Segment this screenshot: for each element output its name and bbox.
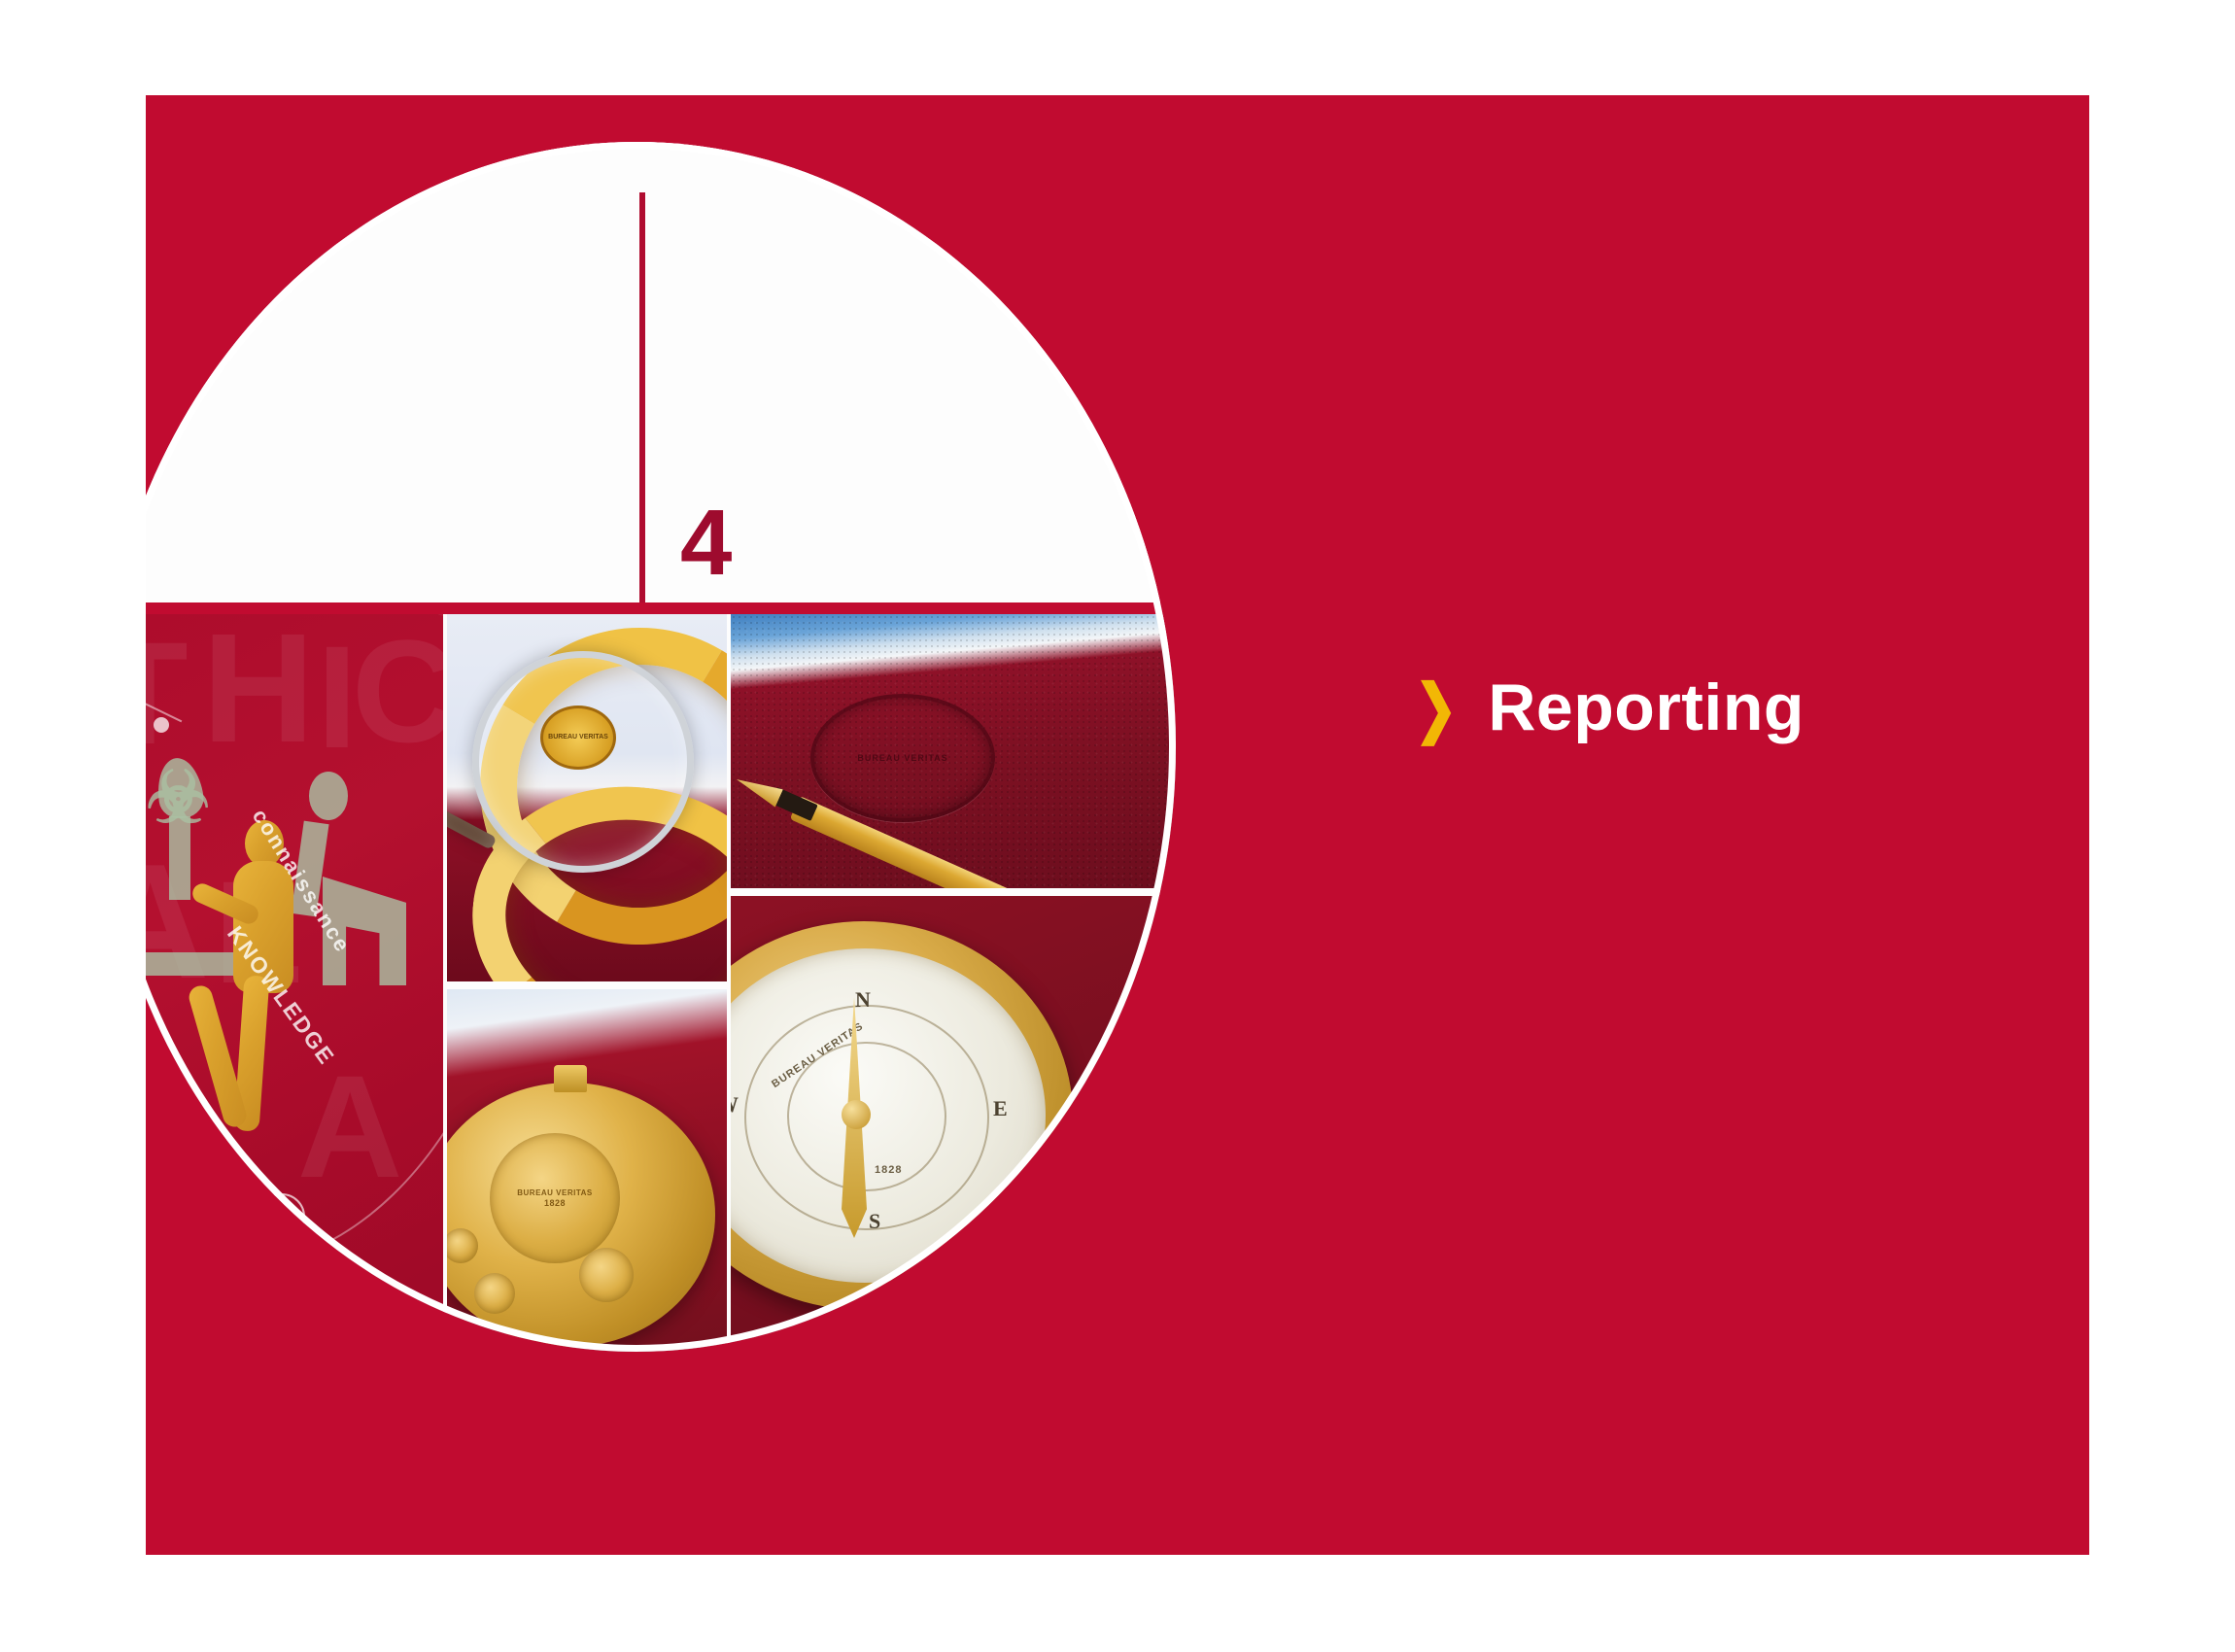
watch-movement-image: BUREAU VERITAS 1828 xyxy=(447,989,727,1352)
watch-tiny-gear xyxy=(474,1273,515,1314)
compass-needle-hub xyxy=(842,1100,871,1129)
compass-cardinal-e: E xyxy=(993,1096,1008,1121)
compass-image: N E S W BUREAU VERITAS 1828 xyxy=(731,896,1176,1352)
watch-pinion-gear xyxy=(447,1228,478,1263)
compass-cardinal-w: W xyxy=(731,1092,739,1118)
ring-hallmark-text: BUREAU VERITAS xyxy=(548,734,608,741)
watch-crown xyxy=(554,1065,587,1092)
top-left-white-panel xyxy=(146,142,643,602)
orbit-node-dot xyxy=(154,717,169,733)
compass-dial-year: 1828 xyxy=(875,1164,902,1176)
gold-ring-magnifier-image: BUREAU VERITAS xyxy=(447,614,727,981)
chevron-right-icon: ❯ xyxy=(1415,675,1458,740)
compass-cardinal-n: N xyxy=(855,987,871,1013)
slide-red-background: 4 T H I C A L A C ☣ xyxy=(146,95,2089,1555)
watch-gear-year: 1828 xyxy=(544,1198,566,1208)
orbit-arc-small xyxy=(146,614,443,1352)
book-embossed-seal: BUREAU VERITAS xyxy=(810,694,995,822)
person-emblem-icon: ♂ xyxy=(274,1201,293,1226)
ring-hallmark-stamp: BUREAU VERITAS xyxy=(540,706,616,770)
section-number: 4 xyxy=(680,497,730,590)
book-seal-text: BUREAU VERITAS xyxy=(857,753,947,763)
watch-gear-brand: BUREAU VERITAS xyxy=(517,1188,593,1197)
watch-small-gear xyxy=(579,1248,634,1302)
compass-cardinal-s: S xyxy=(869,1209,880,1234)
panel-vertical-divider xyxy=(639,192,645,604)
leather-book-pen-image: BUREAU VERITAS xyxy=(731,614,1176,888)
section-heading: ❯ Reporting xyxy=(1409,674,1805,740)
page-title: Reporting xyxy=(1488,674,1805,740)
panel-horizontal-divider xyxy=(146,602,1176,614)
values-collage-image: T H I C A L A C ☣ xyxy=(146,614,443,1352)
presentation-slide: 4 T H I C A L A C ☣ xyxy=(0,0,2235,1652)
section-circle-graphic: 4 T H I C A L A C ☣ xyxy=(146,142,1176,1352)
